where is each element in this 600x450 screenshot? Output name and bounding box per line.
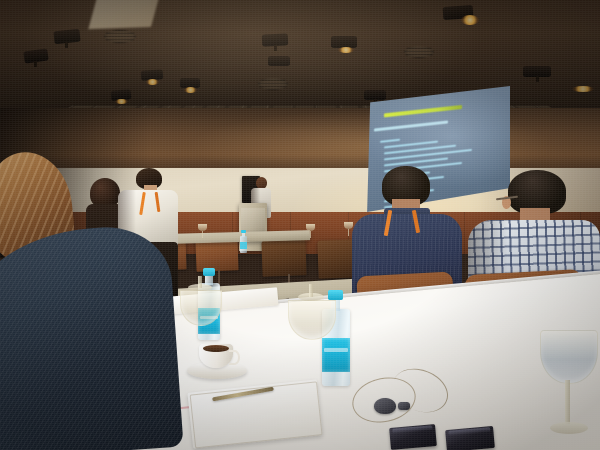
slide-body-line <box>380 139 400 143</box>
device-block-left <box>389 424 437 450</box>
bottle-label <box>240 242 247 249</box>
glass-stem <box>348 229 349 236</box>
wine-glass-inverted-left <box>180 276 220 334</box>
slide-body-line <box>384 149 472 161</box>
wine-glass-upright <box>540 330 596 440</box>
foreground-attendee <box>0 152 184 450</box>
slide-body-line <box>384 141 438 149</box>
slide-body-line <box>384 145 456 155</box>
glass-stem <box>309 284 313 297</box>
glass-bowl <box>306 224 315 231</box>
coffee-cup <box>195 342 239 376</box>
wooden-chair-3 <box>261 239 306 277</box>
coffee-liquid <box>203 345 229 352</box>
glass-bowl <box>540 330 598 384</box>
cup-handle <box>229 350 240 365</box>
conference-room-photo: Photograph of a hotel conference room du… <box>0 0 600 450</box>
wine-glass-inverted-right <box>288 284 334 348</box>
slide-subtitle-line <box>374 120 448 131</box>
bottle-cap <box>203 268 215 276</box>
glass-bowl <box>198 224 207 231</box>
glass-stem <box>565 380 570 424</box>
device-block-right <box>445 426 495 450</box>
glass-stem <box>202 231 203 238</box>
glass-bowl <box>288 300 336 340</box>
glass-foot <box>550 422 588 434</box>
glass-stem <box>310 231 311 238</box>
slide-title-line <box>384 105 462 117</box>
glass-stem <box>198 276 202 288</box>
jacket <box>0 223 184 450</box>
glass-bowl <box>180 290 222 326</box>
